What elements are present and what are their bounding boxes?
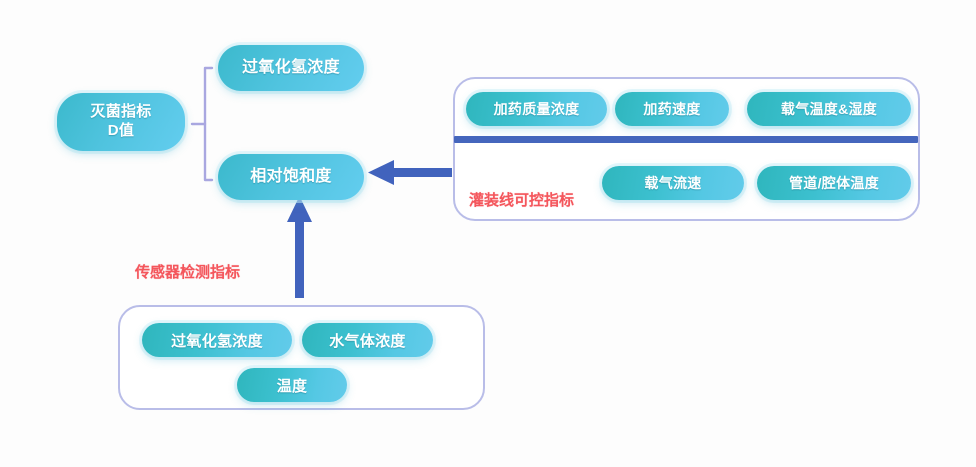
control-pill-carrier-gas-temp-humidity[interactable]: 载气温度&湿度	[747, 92, 911, 126]
sensor-pill-h2o2-concentration[interactable]: 过氧化氢浓度	[142, 323, 292, 357]
arrow-left-icon	[368, 160, 452, 185]
control-pill-dosing-speed[interactable]: 加药速度	[615, 92, 729, 126]
control-pill-carrier-gas-flow-rate[interactable]: 载气流速	[602, 166, 744, 200]
arrow-up-icon	[287, 196, 312, 298]
sensor-indicators-panel: 过氧化氢浓度 水气体浓度 温度	[118, 305, 485, 410]
panel-divider	[454, 136, 918, 143]
node-label-line2: D值	[108, 122, 134, 141]
sensor-pill-temperature[interactable]: 温度	[237, 368, 347, 402]
node-relative-saturation[interactable]: 相对饱和度	[218, 154, 364, 200]
diagram-canvas: 灭菌指标 D值 过氧化氢浓度 相对饱和度 加药质量浓度 加药速度 载气温度&湿度…	[0, 0, 976, 467]
control-panel-label: 灌装线可控指标	[469, 189, 574, 210]
node-label: 过氧化氢浓度	[242, 58, 340, 78]
control-pill-pipe-chamber-temperature[interactable]: 管道/腔体温度	[757, 166, 911, 200]
pill-label: 加药速度	[643, 99, 700, 119]
sensor-panel-label: 传感器检测指标	[135, 261, 240, 282]
node-label-line1: 灭菌指标	[90, 103, 151, 122]
pill-label: 温度	[277, 375, 308, 396]
pill-label: 载气温度&湿度	[781, 99, 877, 119]
node-label: 相对饱和度	[250, 167, 332, 187]
pill-label: 载气流速	[644, 173, 701, 193]
pill-label: 过氧化氢浓度	[171, 330, 263, 351]
node-h2o2-concentration[interactable]: 过氧化氢浓度	[218, 45, 364, 91]
pill-label: 管道/腔体温度	[789, 173, 879, 193]
pill-label: 水气体浓度	[329, 330, 406, 351]
control-pill-dosing-mass-concentration[interactable]: 加药质量浓度	[466, 92, 607, 126]
pill-label: 加药质量浓度	[494, 99, 580, 119]
control-indicators-panel: 加药质量浓度 加药速度 载气温度&湿度 载气流速 管道/腔体温度 灌装线可控指标	[453, 77, 920, 221]
bracket-connector	[192, 68, 212, 180]
sensor-pill-water-vapor-concentration[interactable]: 水气体浓度	[302, 323, 433, 357]
node-sterilization-indicator[interactable]: 灭菌指标 D值	[57, 93, 185, 151]
